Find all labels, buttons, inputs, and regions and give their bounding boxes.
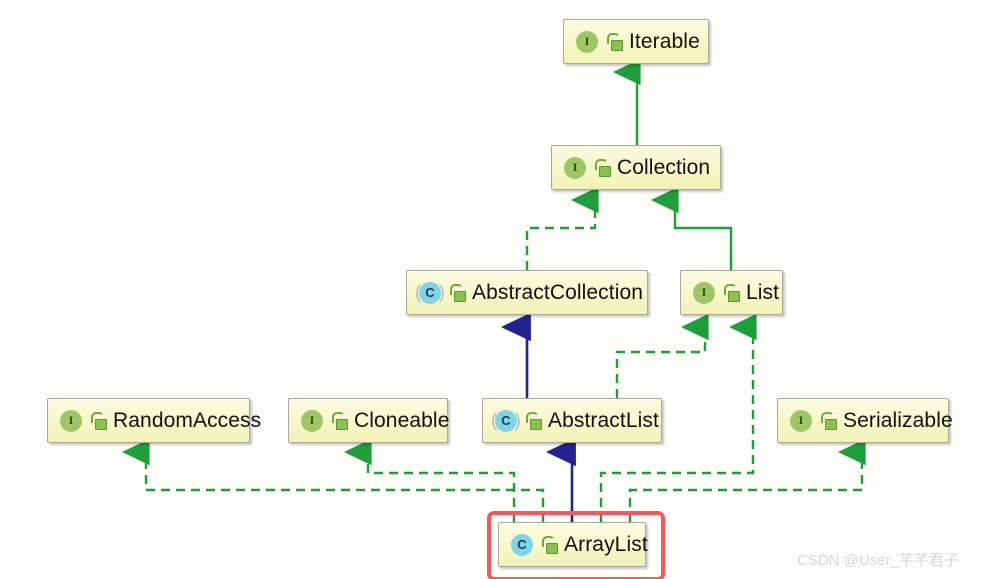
abstract-parentheses-icon: )	[439, 283, 445, 302]
node-label: ArrayList	[564, 533, 648, 557]
unlocked-padlock-icon	[820, 411, 836, 431]
node-randomaccess[interactable]: IRandomAccess	[47, 398, 250, 443]
node-cloneable[interactable]: ICloneable	[288, 398, 448, 443]
padlock-body	[530, 419, 542, 430]
node-label: AbstractList	[548, 409, 659, 433]
edge-list-to-collection	[675, 200, 731, 270]
edge-arraylist-to-serializable	[630, 452, 862, 522]
node-abstractcollection[interactable]: ()CAbstractCollection	[406, 270, 648, 315]
node-serializable[interactable]: ISerializable	[777, 398, 949, 443]
node-label: AbstractCollection	[472, 281, 643, 305]
padlock-body	[825, 419, 837, 430]
node-list[interactable]: IList	[680, 270, 783, 315]
padlock-body	[611, 40, 623, 51]
unlocked-padlock-icon	[594, 158, 610, 178]
edge-abstractlist-to-list	[617, 327, 705, 398]
node-arraylist[interactable]: CArrayList	[498, 522, 646, 567]
watermark: CSDN @User_芊芊君子	[797, 549, 959, 570]
padlock-body	[336, 419, 348, 430]
type-letter: I	[60, 410, 82, 432]
node-iterable[interactable]: IIterable	[563, 19, 709, 64]
class-icon: ()C	[493, 408, 519, 434]
type-letter: I	[301, 410, 323, 432]
node-collection[interactable]: ICollection	[551, 145, 721, 190]
class-icon: C	[509, 532, 535, 558]
unlocked-padlock-icon	[90, 411, 106, 431]
padlock-body	[95, 419, 107, 430]
unlocked-padlock-icon	[606, 32, 622, 52]
type-letter: C	[511, 534, 533, 556]
node-abstractlist[interactable]: ()CAbstractList	[482, 398, 662, 443]
unlocked-padlock-icon	[331, 411, 347, 431]
edge-arraylist-to-randomaccess	[146, 452, 543, 522]
node-label: Iterable	[629, 30, 700, 54]
padlock-body	[599, 166, 611, 177]
interface-icon: I	[788, 408, 814, 434]
interface-icon: I	[574, 29, 600, 55]
interface-icon: I	[691, 280, 717, 306]
unlocked-padlock-icon	[541, 535, 557, 555]
node-label: Collection	[617, 156, 710, 180]
node-label: RandomAccess	[113, 409, 261, 433]
node-label: List	[746, 281, 779, 305]
type-letter: I	[564, 157, 586, 179]
unlocked-padlock-icon	[525, 411, 541, 431]
edge-abstractcollection-to-collection	[527, 200, 595, 270]
interface-icon: I	[562, 155, 588, 181]
node-label: Cloneable	[354, 409, 449, 433]
padlock-body	[454, 291, 466, 302]
node-label: Serializable	[843, 409, 953, 433]
padlock-body	[546, 543, 558, 554]
abstract-parentheses-icon: (	[415, 283, 421, 302]
type-letter: I	[693, 282, 715, 304]
abstract-parentheses-icon: (	[491, 411, 497, 430]
padlock-body	[728, 291, 740, 302]
type-letter: I	[790, 410, 812, 432]
uml-class-diagram: IIterableICollection()CAbstractCollectio…	[0, 0, 996, 579]
interface-icon: I	[299, 408, 325, 434]
unlocked-padlock-icon	[723, 283, 739, 303]
class-icon: ()C	[417, 280, 443, 306]
type-letter: I	[576, 31, 598, 53]
abstract-parentheses-icon: )	[515, 411, 521, 430]
unlocked-padlock-icon	[449, 283, 465, 303]
interface-icon: I	[58, 408, 84, 434]
